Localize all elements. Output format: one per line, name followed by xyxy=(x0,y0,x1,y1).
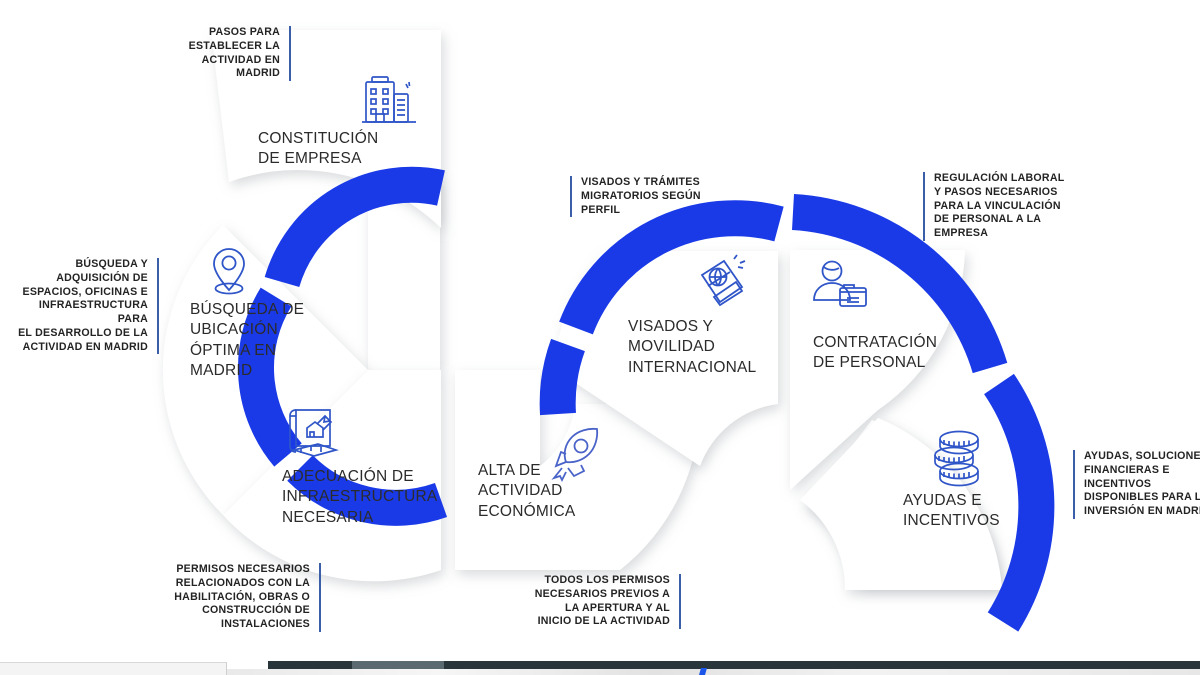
infographic-canvas: CONSTITUCIÓN DE EMPRESA BÚSQUEDA DE UBIC… xyxy=(0,0,1200,675)
office-building-icon xyxy=(358,70,420,132)
step-title-visados-y-movilidad-internacional: VISADOS Y MOVILIDAD INTERNACIONAL xyxy=(628,317,756,378)
callout-contratacion-de-personal: REGULACIÓN LABORAL Y PASOS NECESARIOS PA… xyxy=(923,172,1089,241)
callout-adecuacion-de-infraestructura: PERMISOS NECESARIOS RELACIONADOS CON LA … xyxy=(155,563,321,632)
step-title-constitucion-de-empresa: CONSTITUCIÓN DE EMPRESA xyxy=(258,129,378,170)
step-title-contratacion-de-personal: CONTRATACIÓN DE PERSONAL xyxy=(813,333,937,374)
coins-stack-icon xyxy=(928,426,990,488)
arc-middle-lower xyxy=(558,345,568,414)
passport-globe-icon xyxy=(688,253,752,315)
step-title-adecuacion-de-infraestructura: ADECUACIÓN DE INFRAESTRUCTURA NECESARIA xyxy=(282,467,437,528)
left-panel-strip xyxy=(0,662,227,675)
callout-busqueda-de-ubicacion: BÚSQUEDA Y ADQUISICIÓN DE ESPACIOS, OFIC… xyxy=(8,258,159,354)
callout-alta-de-actividad-economica: TODOS LOS PERMISOS NECESARIOS PREVIOS A … xyxy=(515,574,681,629)
process-diagram xyxy=(0,0,1200,660)
callout-visados-y-movilidad-internacional: VISADOS Y TRÁMITES MIGRATORIOS SEGÚN PER… xyxy=(570,176,731,217)
step-title-busqueda-de-ubicacion: BÚSQUEDA DE UBICACIÓN ÓPTIMA EN MADRID xyxy=(190,300,304,382)
map-pin-icon xyxy=(204,243,254,299)
titlebar-gray-block xyxy=(352,661,444,669)
callout-ayudas-e-incentivos: AYUDAS, SOLUCIONES FINANCIERAS E INCENTI… xyxy=(1073,450,1200,519)
employee-file-icon xyxy=(808,258,872,316)
step-title-alta-de-actividad-economica: ALTA DE ACTIVIDAD ECONÓMICA xyxy=(478,461,575,522)
arc-right-lower xyxy=(999,384,1036,622)
step-title-ayudas-e-incentivos: AYUDAS E INCENTIVOS xyxy=(903,491,1000,532)
bottom-window-chrome xyxy=(0,659,1200,675)
taskbar-strip[interactable] xyxy=(226,669,1200,675)
callout-constitucion-de-empresa: PASOS PARA ESTABLECER LA ACTIVIDAD EN MA… xyxy=(170,26,291,81)
blueprint-house-icon xyxy=(281,404,343,460)
